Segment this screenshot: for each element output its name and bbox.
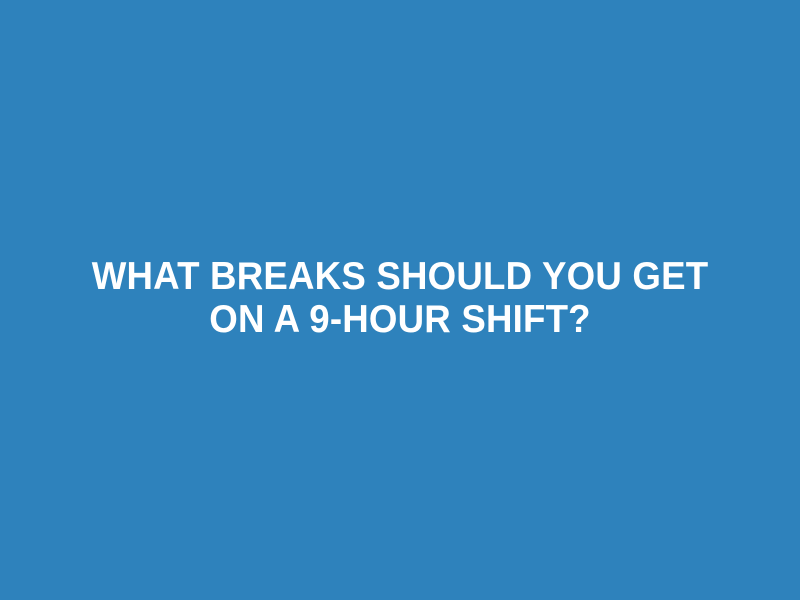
page-title: WHAT BREAKS SHOULD YOU GET ON A 9-HOUR S…: [90, 255, 710, 341]
title-banner: WHAT BREAKS SHOULD YOU GET ON A 9-HOUR S…: [0, 0, 800, 600]
title-block: WHAT BREAKS SHOULD YOU GET ON A 9-HOUR S…: [70, 255, 730, 341]
